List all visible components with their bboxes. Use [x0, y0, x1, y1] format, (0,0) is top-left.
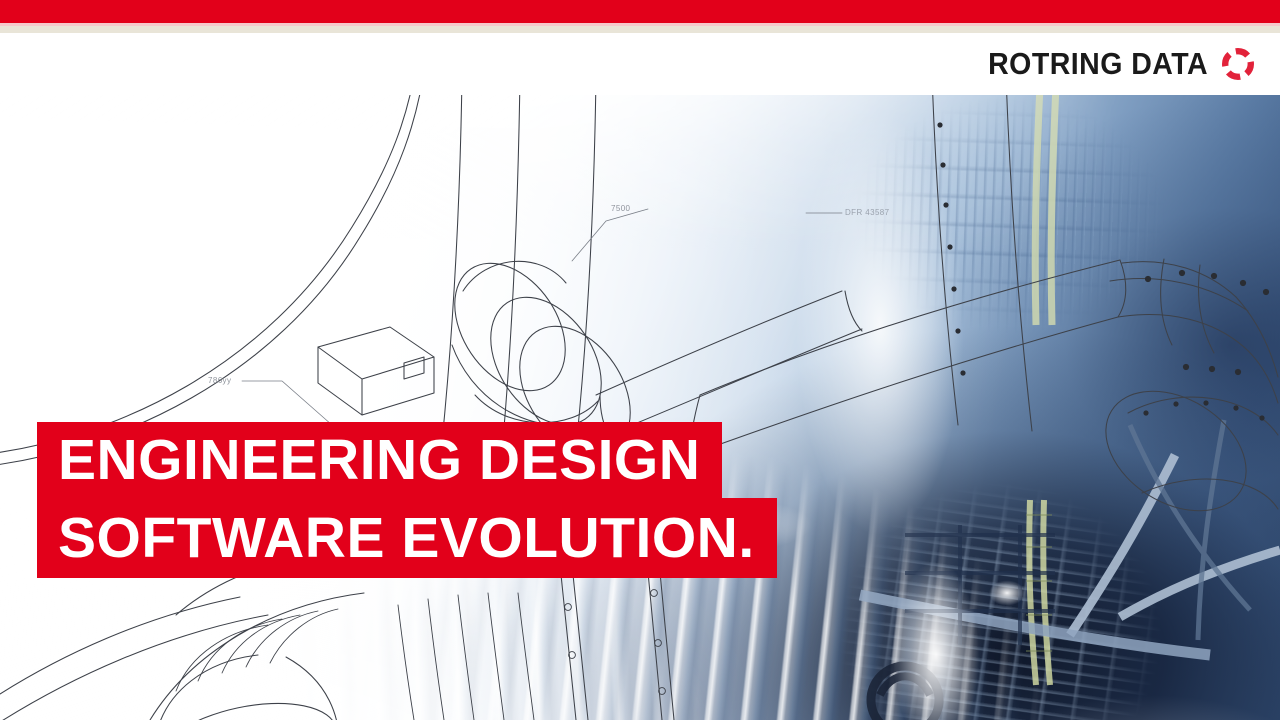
headline-line-1: ENGINEERING DESIGN	[37, 422, 722, 498]
title-slide: ROTRING DATA	[0, 0, 1280, 720]
page-header: ROTRING DATA	[0, 33, 1280, 95]
cad-wireframe-overlay	[0, 95, 1280, 720]
cad-label-dfr-43587: DFR 43587	[845, 208, 890, 217]
brand-wordmark: ROTRING DATA	[988, 46, 1208, 82]
headline-line-2: SOFTWARE EVOLUTION.	[37, 498, 777, 578]
headline-block: ENGINEERING DESIGN SOFTWARE EVOLUTION.	[37, 422, 777, 578]
top-accent-bar	[0, 0, 1280, 23]
brand-logo[interactable]: ROTRING DATA	[969, 46, 1254, 82]
hero-artwork: 786yy 7500 DFR 43587	[0, 95, 1280, 720]
cad-label-7500: 7500	[611, 204, 630, 213]
top-beige-rule	[0, 26, 1280, 33]
segmented-ring-icon	[1222, 48, 1254, 80]
cad-label-786yy: 786yy	[208, 376, 231, 385]
